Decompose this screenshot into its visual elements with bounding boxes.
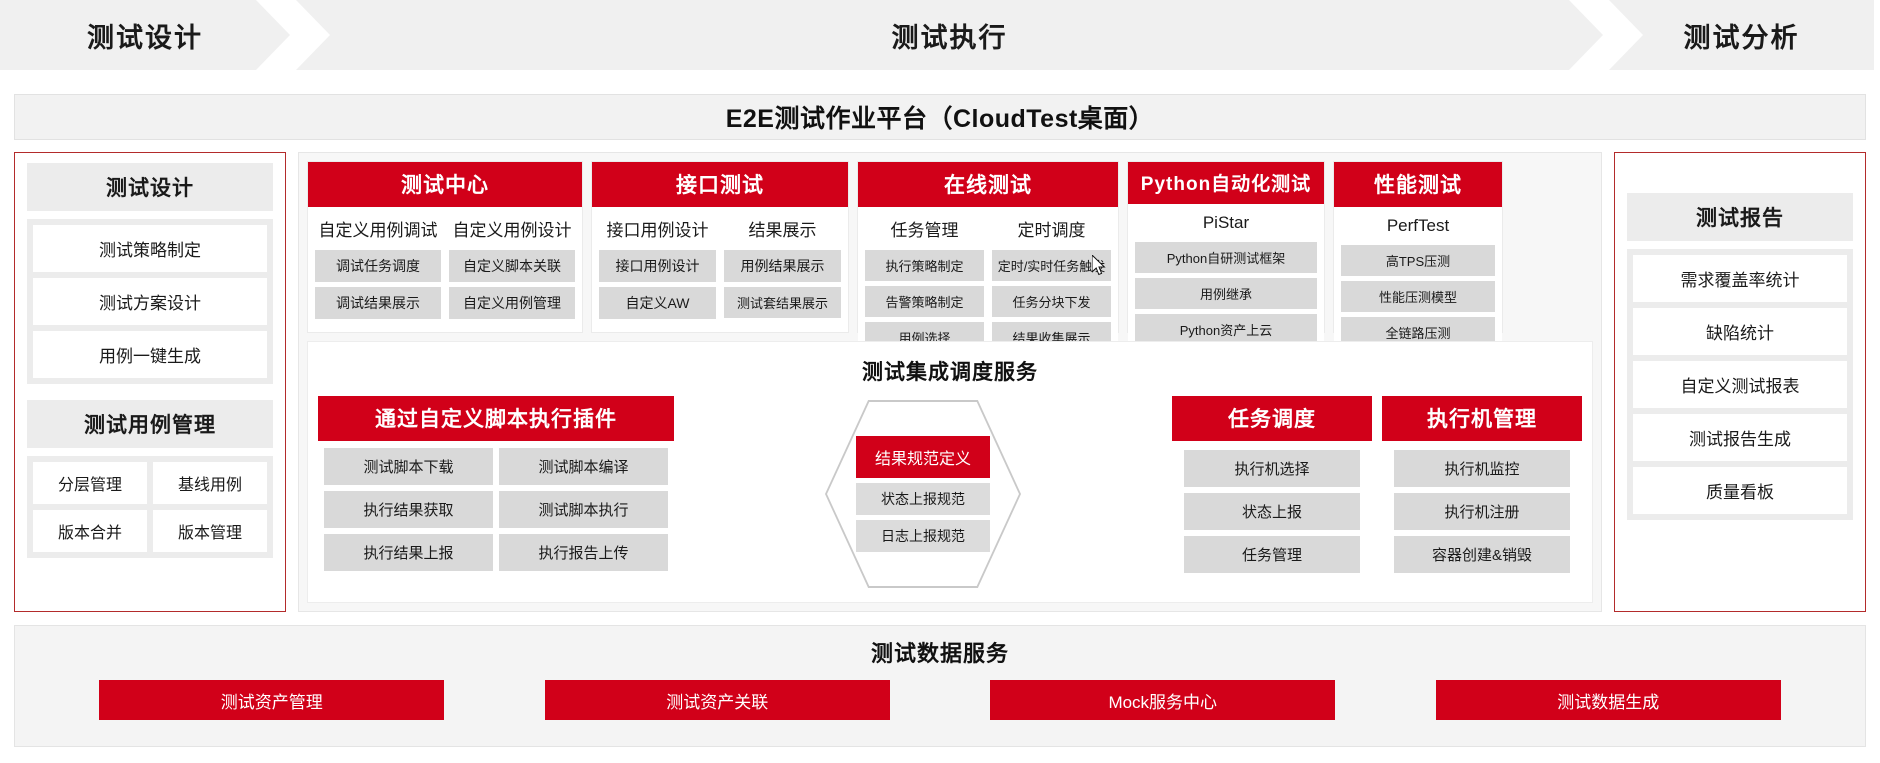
module-body-online-test: 任务管理 执行策略制定 告警策略制定 用例选择 定时调度 定时/实时任务触发 任… — [858, 207, 1118, 360]
left-section-heading-design: 测试设计 — [27, 163, 273, 211]
card-body-task-scheduling: 执行机选择 状态上报 任务管理 — [1172, 441, 1372, 582]
module-title-api-test: 接口测试 — [592, 162, 848, 207]
left-item-case-generate[interactable]: 用例一键生成 — [33, 331, 267, 378]
module-performance-test: 性能测试 PerfTest 高TPS压测 性能压测模型 全链路压测 — [1333, 161, 1503, 333]
module-title-performance-test: 性能测试 — [1334, 162, 1502, 207]
chip-custom-script-link[interactable]: 自定义脚本关联 — [449, 250, 575, 282]
integration-body: 通过自定义脚本执行插件 测试脚本下载 测试脚本编译 执行结果获取 测试脚本执行 … — [318, 396, 1582, 592]
subgroup-custom-case-debug: 自定义用例调试 调试任务调度 调试结果展示 — [315, 214, 441, 325]
chip-python-framework[interactable]: Python自研测试框架 — [1135, 242, 1317, 273]
data-chip-data-generation[interactable]: 测试数据生成 — [1436, 680, 1781, 720]
right-item-custom-report[interactable]: 自定义测试报表 — [1633, 361, 1847, 408]
phase-chevron-execution[interactable]: 测试执行 — [296, 0, 1603, 70]
right-panel-test-report: 测试报告 需求覆盖率统计 缺陷统计 自定义测试报表 测试报告生成 质量看板 — [1614, 152, 1866, 612]
subgroup-result-display: 结果展示 用例结果展示 测试套结果展示 — [724, 214, 841, 325]
module-title-test-center: 测试中心 — [308, 162, 582, 207]
left-item-strategy[interactable]: 测试策略制定 — [33, 225, 267, 272]
chip-status-report-spec[interactable]: 状态上报规范 — [856, 483, 990, 515]
module-python-automation: Python自动化测试 PiStar Python自研测试框架 用例继承 Pyt… — [1127, 161, 1325, 333]
data-service-chips: 测试资产管理 测试资产关联 Mock服务中心 测试数据生成 — [15, 680, 1865, 720]
right-item-report-generation[interactable]: 测试报告生成 — [1633, 414, 1847, 461]
right-section-heading-report: 测试报告 — [1627, 193, 1853, 241]
subgroup-title-perftest: PerfTest — [1341, 214, 1495, 240]
chip-executor-monitor[interactable]: 执行机监控 — [1394, 450, 1570, 487]
card-task-scheduling: 任务调度 执行机选择 状态上报 任务管理 — [1172, 396, 1372, 592]
phase-label-execution: 测试执行 — [892, 16, 1008, 55]
right-section-items-report: 需求覆盖率统计 缺陷统计 自定义测试报表 测试报告生成 质量看板 — [1627, 249, 1853, 520]
chip-exec-result-report[interactable]: 执行结果上报 — [324, 534, 493, 571]
left-item-baseline-case[interactable]: 基线用例 — [153, 462, 267, 504]
chip-task-management[interactable]: 任务管理 — [1184, 536, 1360, 573]
chip-exec-strategy[interactable]: 执行策略制定 — [865, 250, 984, 281]
chip-alarm-strategy[interactable]: 告警策略制定 — [865, 286, 984, 317]
left-section-heading-case-mgmt: 测试用例管理 — [27, 400, 273, 448]
module-title-online-test: 在线测试 — [858, 162, 1118, 207]
chip-container-create-destroy[interactable]: 容器创建&销毁 — [1394, 536, 1570, 573]
center-column: 测试中心 自定义用例调试 调试任务调度 调试结果展示 自定义用例设计 自定义脚本… — [298, 152, 1602, 612]
chip-status-report[interactable]: 状态上报 — [1184, 493, 1360, 530]
module-test-center: 测试中心 自定义用例调试 调试任务调度 调试结果展示 自定义用例设计 自定义脚本… — [307, 161, 583, 333]
chip-script-download[interactable]: 测试脚本下载 — [324, 448, 493, 485]
data-chip-asset-link[interactable]: 测试资产关联 — [545, 680, 890, 720]
chip-exec-report-upload[interactable]: 执行报告上传 — [499, 534, 668, 571]
module-api-test: 接口测试 接口用例设计 接口用例设计 自定义AW 结果展示 用例结果展示 测试套… — [591, 161, 849, 333]
phase-label-design: 测试设计 — [87, 16, 203, 55]
module-body-test-center: 自定义用例调试 调试任务调度 调试结果展示 自定义用例设计 自定义脚本关联 自定… — [308, 207, 582, 332]
data-chip-asset-mgmt[interactable]: 测试资产管理 — [99, 680, 444, 720]
right-item-defect-stats[interactable]: 缺陷统计 — [1633, 308, 1847, 355]
integration-scheduling-service: 测试集成调度服务 通过自定义脚本执行插件 测试脚本下载 测试脚本编译 执行结果获… — [307, 341, 1593, 603]
module-body-performance-test: PerfTest 高TPS压测 性能压测模型 全链路压测 — [1334, 207, 1502, 355]
card-body-custom-script-plugin: 测试脚本下载 测试脚本编译 执行结果获取 测试脚本执行 执行结果上报 执行报告上… — [318, 441, 674, 578]
right-item-requirement-coverage[interactable]: 需求覆盖率统计 — [1633, 255, 1847, 302]
left-section-items-design: 测试策略制定 测试方案设计 用例一键生成 — [27, 219, 273, 384]
card-title-executor-management: 执行机管理 — [1382, 396, 1582, 441]
subgroup-title-custom-case-debug: 自定义用例调试 — [315, 214, 441, 245]
phase-chevron-analysis[interactable]: 测试分析 — [1609, 0, 1874, 70]
card-body-executor-management: 执行机监控 执行机注册 容器创建&销毁 — [1382, 441, 1582, 582]
chip-high-tps-stress[interactable]: 高TPS压测 — [1341, 245, 1495, 276]
left-panel-test-design: 测试设计 测试策略制定 测试方案设计 用例一键生成 测试用例管理 分层管理 基线… — [14, 152, 286, 612]
left-item-version-mgmt[interactable]: 版本管理 — [153, 510, 267, 552]
module-body-python-automation: PiStar Python自研测试框架 用例继承 Python资产上云 — [1128, 204, 1324, 352]
modules-row: 测试中心 自定义用例调试 调试任务调度 调试结果展示 自定义用例设计 自定义脚本… — [307, 161, 1593, 333]
subgroup-title-api-case-design: 接口用例设计 — [599, 214, 716, 245]
left-section-items-case-mgmt: 分层管理 基线用例 版本合并 版本管理 — [27, 456, 273, 558]
subgroup-pistar: PiStar Python自研测试框架 用例继承 Python资产上云 — [1135, 211, 1317, 345]
subgroup-timed-scheduling: 定时调度 定时/实时任务触发 任务分块下发 结果收集展示 — [992, 214, 1111, 353]
right-item-quality-board[interactable]: 质量看板 — [1633, 467, 1847, 514]
left-item-version-merge[interactable]: 版本合并 — [33, 510, 147, 552]
subgroup-title-pistar: PiStar — [1135, 211, 1317, 237]
chip-script-execute[interactable]: 测试脚本执行 — [499, 491, 668, 528]
subgroup-title-custom-case-design: 自定义用例设计 — [449, 214, 575, 245]
result-spec-hexagon-zone: 结果规范定义 状态上报规范 日志上报规范 — [684, 396, 1162, 592]
subgroup-title-result-display: 结果展示 — [724, 214, 841, 245]
chip-case-result-display[interactable]: 用例结果展示 — [724, 250, 841, 282]
module-title-python-automation: Python自动化测试 — [1128, 162, 1324, 204]
chip-executor-selection[interactable]: 执行机选择 — [1184, 450, 1360, 487]
left-item-plan[interactable]: 测试方案设计 — [33, 278, 267, 325]
chip-log-report-spec[interactable]: 日志上报规范 — [856, 520, 990, 552]
chip-case-inheritance[interactable]: 用例继承 — [1135, 278, 1317, 309]
subgroup-custom-case-design: 自定义用例设计 自定义脚本关联 自定义用例管理 — [449, 214, 575, 325]
module-online-test: 在线测试 任务管理 执行策略制定 告警策略制定 用例选择 定时调度 定时/实时任… — [857, 161, 1119, 333]
platform-title: E2E测试作业平台（CloudTest桌面） — [726, 99, 1155, 135]
phase-label-analysis: 测试分析 — [1684, 16, 1800, 55]
main-content-row: 测试设计 测试策略制定 测试方案设计 用例一键生成 测试用例管理 分层管理 基线… — [14, 152, 1866, 612]
phase-chevron-design[interactable]: 测试设计 — [0, 0, 290, 70]
subgroup-perftest: PerfTest 高TPS压测 性能压测模型 全链路压测 — [1341, 214, 1495, 348]
chip-custom-case-mgmt[interactable]: 自定义用例管理 — [449, 287, 575, 319]
chip-suite-result-display[interactable]: 测试套结果展示 — [724, 287, 841, 318]
chip-script-compile[interactable]: 测试脚本编译 — [499, 448, 668, 485]
subgroup-api-case-design: 接口用例设计 接口用例设计 自定义AW — [599, 214, 716, 325]
integration-title: 测试集成调度服务 — [318, 350, 1582, 396]
chip-task-chunk-dispatch[interactable]: 任务分块下发 — [992, 286, 1111, 317]
subgroup-title-timed-scheduling: 定时调度 — [992, 214, 1111, 245]
architecture-diagram-page: 测试设计 测试执行 测试分析 E2E测试作业平台（CloudTest桌面） 测试… — [0, 0, 1880, 763]
platform-title-band: E2E测试作业平台（CloudTest桌面） — [14, 94, 1866, 140]
card-custom-script-plugin: 通过自定义脚本执行插件 测试脚本下载 测试脚本编译 执行结果获取 测试脚本执行 … — [318, 396, 674, 592]
chip-perf-stress-model[interactable]: 性能压测模型 — [1341, 281, 1495, 312]
chip-debug-task-schedule[interactable]: 调试任务调度 — [315, 250, 441, 282]
card-executor-management: 执行机管理 执行机监控 执行机注册 容器创建&销毁 — [1382, 396, 1582, 592]
result-spec-group: 结果规范定义 状态上报规范 日志上报规范 — [856, 436, 990, 552]
subgroup-title-task-mgmt: 任务管理 — [865, 214, 984, 245]
data-service-title: 测试数据服务 — [871, 636, 1009, 668]
chip-exec-result-fetch[interactable]: 执行结果获取 — [324, 491, 493, 528]
data-chip-mock-service[interactable]: Mock服务中心 — [990, 680, 1335, 720]
card-title-custom-script-plugin: 通过自定义脚本执行插件 — [318, 396, 674, 441]
card-title-task-scheduling: 任务调度 — [1172, 396, 1372, 441]
left-item-layer-mgmt[interactable]: 分层管理 — [33, 462, 147, 504]
data-service-band: 测试数据服务 测试资产管理 测试资产关联 Mock服务中心 测试数据生成 — [14, 625, 1866, 747]
chip-timed-realtime-trigger[interactable]: 定时/实时任务触发 — [992, 250, 1111, 281]
module-body-api-test: 接口用例设计 接口用例设计 自定义AW 结果展示 用例结果展示 测试套结果展示 — [592, 207, 848, 332]
chip-api-case-design[interactable]: 接口用例设计 — [599, 250, 716, 282]
result-spec-title[interactable]: 结果规范定义 — [856, 436, 990, 478]
subgroup-task-mgmt: 任务管理 执行策略制定 告警策略制定 用例选择 — [865, 214, 984, 353]
chip-executor-register[interactable]: 执行机注册 — [1394, 493, 1570, 530]
chip-debug-result-display[interactable]: 调试结果展示 — [315, 287, 441, 319]
phase-bar: 测试设计 测试执行 测试分析 — [0, 0, 1880, 70]
chip-custom-aw[interactable]: 自定义AW — [599, 287, 716, 319]
